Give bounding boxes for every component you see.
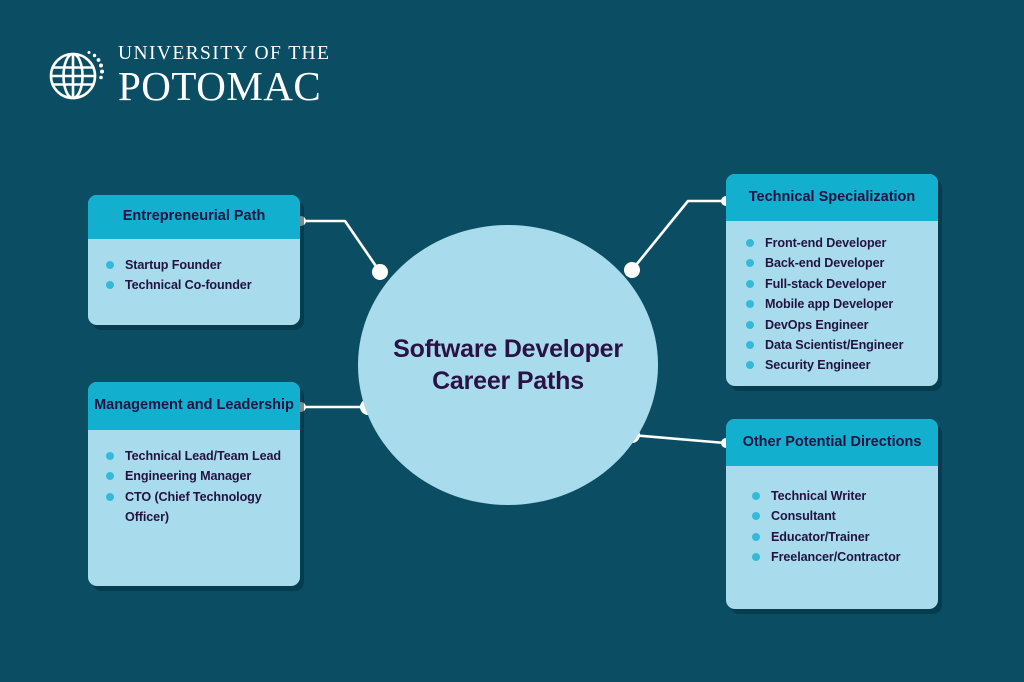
- card-body-technical-specialization: Front-end DeveloperBack-end DeveloperFul…: [726, 221, 938, 386]
- central-hub: Software Developer Career Paths: [358, 225, 658, 505]
- list-item: Technical Writer: [752, 486, 924, 506]
- bullet-list-technical-specialization: Front-end DeveloperBack-end DeveloperFul…: [746, 233, 924, 376]
- globe-icon: [46, 45, 106, 105]
- list-item: Engineering Manager: [106, 466, 286, 486]
- list-item: Data Scientist/Engineer: [746, 335, 924, 355]
- card-body-other-potential-directions: Technical WriterConsultantEducator/Train…: [726, 466, 938, 582]
- infographic-canvas: UNIVERSITY OF THE POTOMAC Software Devel…: [0, 0, 1024, 682]
- hub-title: Software Developer Career Paths: [383, 333, 633, 398]
- list-item: Technical Co-founder: [106, 275, 286, 295]
- node-hub-entrepreneurial: [372, 264, 388, 280]
- card-body-entrepreneurial-path: Startup FounderTechnical Co-founder: [88, 239, 300, 310]
- card-body-management-and-leadership: Technical Lead/Team LeadEngineering Mana…: [88, 430, 300, 542]
- card-technical-specialization[interactable]: Technical Specialization Front-end Devel…: [726, 174, 938, 386]
- list-item: CTO (Chief Technology Officer): [106, 487, 286, 528]
- university-logo: UNIVERSITY OF THE POTOMAC: [46, 44, 330, 107]
- bullet-list-other-potential-directions: Technical WriterConsultantEducator/Train…: [752, 486, 924, 568]
- list-item: Technical Lead/Team Lead: [106, 446, 286, 466]
- card-other-potential-directions[interactable]: Other Potential Directions Technical Wri…: [726, 419, 938, 609]
- connector-technical: [632, 201, 725, 270]
- logo-line-potomac: POTOMAC: [118, 66, 330, 107]
- list-item: Back-end Developer: [746, 253, 924, 273]
- node-hub-technical: [624, 262, 640, 278]
- list-item: Mobile app Developer: [746, 294, 924, 314]
- card-header-entrepreneurial-path: Entrepreneurial Path: [88, 195, 300, 239]
- list-item: Startup Founder: [106, 255, 286, 275]
- bullet-list-entrepreneurial-path: Startup FounderTechnical Co-founder: [106, 255, 286, 296]
- card-header-management-and-leadership: Management and Leadership: [88, 382, 300, 430]
- list-item: Security Engineer: [746, 355, 924, 375]
- logo-line-university: UNIVERSITY OF THE: [118, 44, 330, 64]
- card-entrepreneurial-path[interactable]: Entrepreneurial Path Startup FounderTech…: [88, 195, 300, 325]
- list-item: Consultant: [752, 506, 924, 526]
- list-item: Freelancer/Contractor: [752, 547, 924, 567]
- list-item: DevOps Engineer: [746, 315, 924, 335]
- list-item: Full-stack Developer: [746, 274, 924, 294]
- list-item: Educator/Trainer: [752, 527, 924, 547]
- card-header-other-potential-directions: Other Potential Directions: [726, 419, 938, 466]
- bullet-list-management-and-leadership: Technical Lead/Team LeadEngineering Mana…: [106, 446, 286, 528]
- logo-wordmark: UNIVERSITY OF THE POTOMAC: [118, 44, 330, 107]
- connector-entrepreneurial: [301, 221, 380, 272]
- connector-other: [632, 435, 725, 443]
- card-header-technical-specialization: Technical Specialization: [726, 174, 938, 221]
- list-item: Front-end Developer: [746, 233, 924, 253]
- card-management-and-leadership[interactable]: Management and Leadership Technical Lead…: [88, 382, 300, 586]
